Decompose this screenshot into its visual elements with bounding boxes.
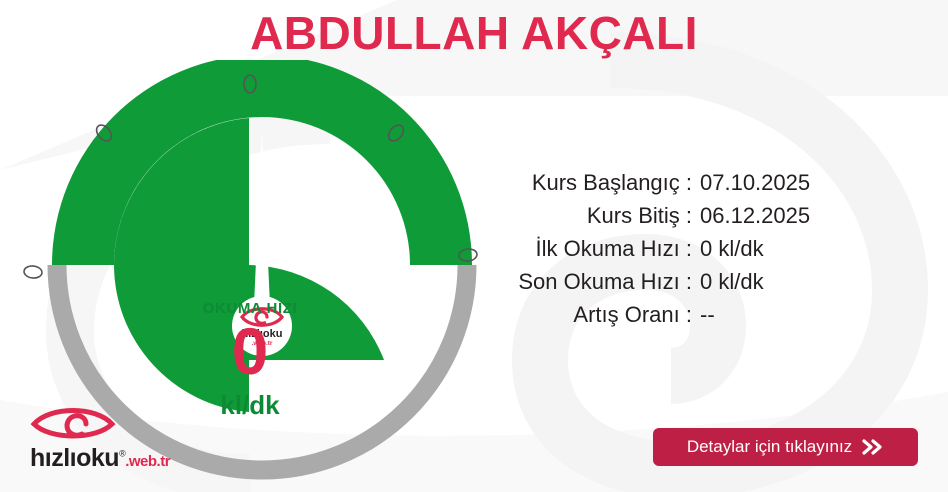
- brand-tld: .web.tr: [125, 453, 170, 470]
- brand-name: hızlıoku: [30, 444, 119, 472]
- brand-logo: hızlıoku®.web.tr: [30, 404, 190, 476]
- double-chevron-right-icon: [862, 438, 884, 456]
- info-value-kurs-bitis: 06.12.2025: [700, 203, 810, 229]
- info-value-artis-orani: --: [700, 302, 715, 328]
- info-label-kurs-baslangic: Kurs Başlangıç :: [470, 170, 700, 196]
- gauge-tick-0-left: [23, 265, 42, 279]
- info-row-ilk-okuma-hizi: İlk Okuma Hızı : 0 kl/dk: [470, 236, 890, 262]
- brand-name-text: hızlıoku®.web.tr: [30, 444, 170, 473]
- info-value-kurs-baslangic: 07.10.2025: [700, 170, 810, 196]
- info-row-son-okuma-hizi: Son Okuma Hızı : 0 kl/dk: [470, 269, 890, 295]
- page-title: ABDULLAH AKÇALI: [0, 6, 948, 60]
- info-label-artis-orani: Artış Oranı :: [470, 302, 700, 328]
- info-label-ilk-okuma-hizi: İlk Okuma Hızı :: [470, 236, 700, 262]
- details-button-label: Detaylar için tıklayınız: [687, 437, 852, 457]
- info-label-kurs-bitis: Kurs Bitiş :: [470, 203, 700, 229]
- info-row-kurs-baslangic: Kurs Başlangıç : 07.10.2025: [470, 170, 890, 196]
- info-value-son-okuma-hizi: 0 kl/dk: [700, 269, 764, 295]
- info-value-ilk-okuma-hizi: 0 kl/dk: [700, 236, 764, 262]
- info-label-son-okuma-hizi: Son Okuma Hızı :: [470, 269, 700, 295]
- info-row-kurs-bitis: Kurs Bitiş : 06.12.2025: [470, 203, 890, 229]
- gauge-value: 0: [0, 318, 500, 384]
- details-button[interactable]: Detaylar için tıklayınız: [653, 428, 918, 466]
- info-row-artis-orani: Artış Oranı : --: [470, 302, 890, 328]
- course-info-panel: Kurs Başlangıç : 07.10.2025 Kurs Bitiş :…: [470, 170, 890, 335]
- hizlioku-eye-icon: [30, 404, 150, 444]
- speed-reading-result-card: ABDULLAH AKÇALI: [0, 0, 948, 492]
